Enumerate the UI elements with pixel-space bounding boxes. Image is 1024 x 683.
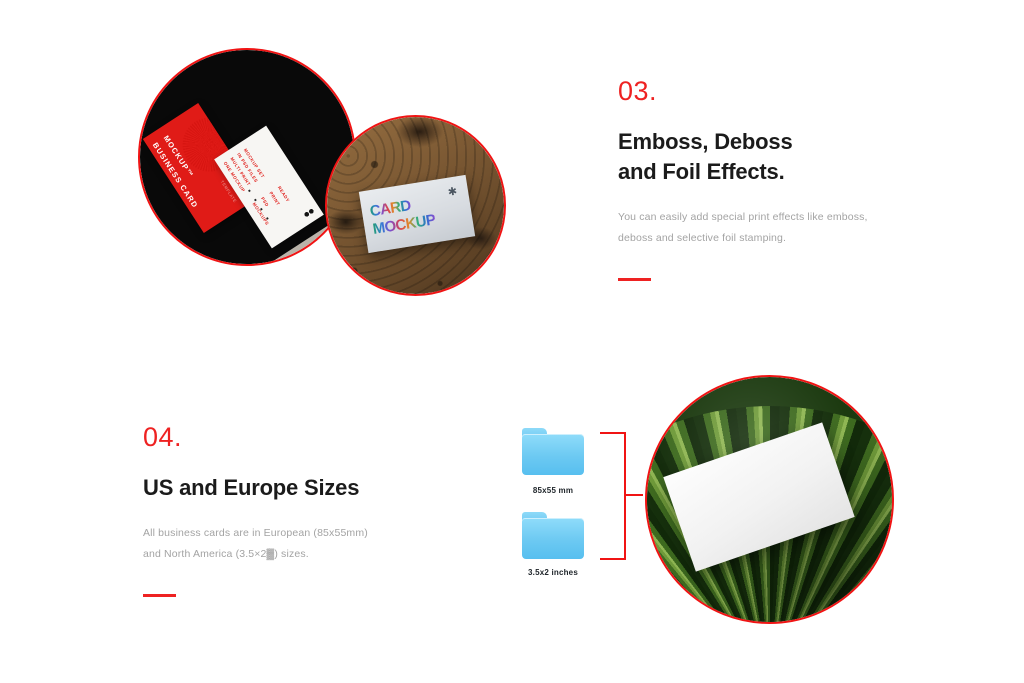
card-size-diagram: 85x55 mm 3.5x2 inches bbox=[505, 420, 665, 600]
photo-holographic-card-on-soil: CARD MOCKUP ✱ bbox=[325, 115, 506, 296]
section-04: 04. US and Europe Sizes All business car… bbox=[143, 424, 433, 597]
section-03-title: Emboss, Deboss and Foil Effects. bbox=[618, 127, 908, 187]
photo-inner bbox=[647, 377, 892, 622]
section-04-body: All business cards are in European (85x5… bbox=[143, 523, 433, 566]
bracket-stem bbox=[626, 494, 643, 496]
folder-body bbox=[522, 434, 584, 475]
double-dot-logo-icon bbox=[303, 208, 315, 218]
photo-business-card-mockup-concrete: BUSINESS CARD MOCKUP™ TEMPLATE ONE MOCKU… bbox=[138, 48, 356, 266]
folder-icon-metric bbox=[522, 428, 584, 475]
photo-inner: CARD MOCKUP ✱ bbox=[327, 117, 504, 294]
folder-icon-imperial bbox=[522, 512, 584, 559]
photo-blank-card-on-palm-leaf bbox=[645, 375, 894, 624]
bracket-connector bbox=[600, 432, 626, 560]
presentation-slide: BUSINESS CARD MOCKUP™ TEMPLATE ONE MOCKU… bbox=[0, 0, 1024, 683]
section-03-divider bbox=[618, 278, 651, 281]
photo-inner: BUSINESS CARD MOCKUP™ TEMPLATE ONE MOCKU… bbox=[140, 50, 354, 264]
folder-label-imperial: 3.5x2 inches bbox=[503, 568, 603, 577]
section-04-number: 04. bbox=[143, 424, 433, 451]
section-04-divider bbox=[143, 594, 176, 597]
folder-body bbox=[522, 518, 584, 559]
section-03: 03. Emboss, Deboss and Foil Effects. You… bbox=[618, 78, 908, 281]
asterisk-icon: ✱ bbox=[447, 188, 457, 198]
folder-label-metric: 85x55 mm bbox=[503, 486, 603, 495]
section-03-body: You can easily add special print effects… bbox=[618, 207, 908, 250]
section-03-number: 03. bbox=[618, 78, 908, 105]
section-04-title: US and Europe Sizes bbox=[143, 473, 433, 503]
